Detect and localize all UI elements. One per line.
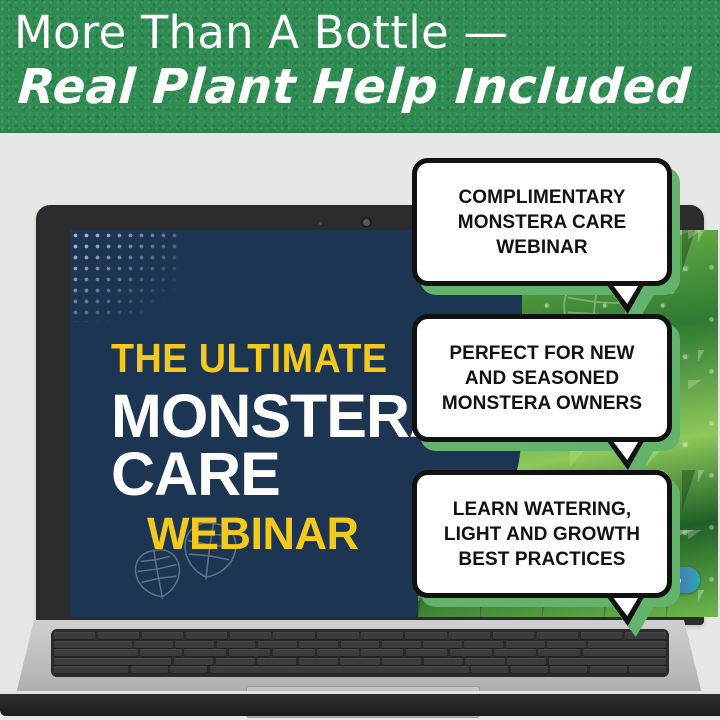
callout-box-2: PERFECT FOR NEW AND SEASONED MONSTERA OW… (412, 314, 672, 442)
key (625, 632, 666, 640)
promo-graphic: More Than A Bottle — Real Plant Help Inc… (0, 0, 720, 720)
key (547, 641, 586, 649)
header-banner: More Than A Bottle — Real Plant Help Inc… (0, 0, 720, 133)
header-banner-inner: More Than A Bottle — Real Plant Help Inc… (0, 0, 720, 127)
key (299, 658, 338, 666)
key (317, 632, 358, 640)
key (406, 649, 448, 657)
key (583, 649, 667, 657)
key (449, 632, 490, 640)
key (140, 649, 182, 657)
key (511, 666, 548, 674)
key (257, 658, 296, 666)
key (423, 641, 462, 649)
key (471, 666, 508, 674)
key (273, 632, 314, 640)
keyboard-row (54, 632, 666, 640)
keyboard-row (54, 666, 666, 674)
banner-headline-line-2: Real Plant Help Included (16, 59, 693, 115)
webcam-icon (363, 219, 370, 226)
key (258, 641, 297, 649)
callout-box-1: COMPLIMENTARY MONSTERA CARE WEBINAR (412, 158, 672, 286)
laptop-keyboard (51, 629, 669, 677)
key (98, 632, 139, 640)
key (216, 658, 255, 666)
key (217, 641, 256, 649)
key (229, 649, 271, 657)
key (464, 641, 503, 649)
key (54, 649, 138, 657)
spacebar-key (210, 666, 469, 674)
key (590, 666, 627, 674)
slide-eyebrow: THE ULTIMATE (111, 338, 461, 379)
key (465, 658, 504, 666)
key (142, 632, 183, 640)
key (134, 641, 173, 649)
key (273, 649, 315, 657)
key (494, 649, 536, 657)
keyboard-row (54, 658, 666, 666)
halftone-dots-icon (70, 230, 182, 322)
key (174, 658, 213, 666)
callout-bubble-3: LEARN WATERING, LIGHT AND GROWTH BEST PR… (412, 470, 672, 598)
callout-text-2: PERFECT FOR NEW AND SEASONED MONSTERA OW… (417, 341, 667, 416)
key (299, 641, 338, 649)
key (341, 641, 380, 649)
callout-text-1: COMPLIMENTARY MONSTERA CARE WEBINAR (417, 185, 667, 260)
key (170, 666, 207, 674)
key (405, 632, 446, 640)
callout-box-3: LEARN WATERING, LIGHT AND GROWTH BEST PR… (412, 470, 672, 598)
keyboard-row (54, 641, 666, 649)
key (549, 658, 666, 666)
key (550, 666, 587, 674)
key (186, 632, 227, 640)
key (382, 641, 421, 649)
key (131, 666, 168, 674)
key (361, 649, 403, 657)
key (588, 641, 666, 649)
key (54, 666, 128, 674)
key (54, 641, 132, 649)
key (581, 632, 622, 640)
key (537, 632, 578, 640)
callout-bubble-2: PERFECT FOR NEW AND SEASONED MONSTERA OW… (412, 314, 672, 442)
key (450, 649, 492, 657)
key (538, 649, 580, 657)
key (506, 641, 545, 649)
key (424, 658, 463, 666)
laptop-base-bottom (0, 694, 720, 716)
key (629, 666, 666, 674)
key (184, 649, 226, 657)
key (361, 632, 402, 640)
microphone-icon (319, 222, 322, 225)
key (340, 658, 379, 666)
callout-bubble-1: COMPLIMENTARY MONSTERA CARE WEBINAR (412, 158, 672, 286)
key (54, 632, 95, 640)
key (382, 658, 421, 666)
key (175, 641, 214, 649)
keyboard-row (54, 649, 666, 657)
callout-text-3: LEARN WATERING, LIGHT AND GROWTH BEST PR… (417, 497, 667, 572)
key (493, 632, 534, 640)
key (317, 649, 359, 657)
key (54, 658, 171, 666)
banner-headline-line-1: More Than A Bottle — (14, 7, 509, 59)
key (507, 658, 546, 666)
key (230, 632, 271, 640)
